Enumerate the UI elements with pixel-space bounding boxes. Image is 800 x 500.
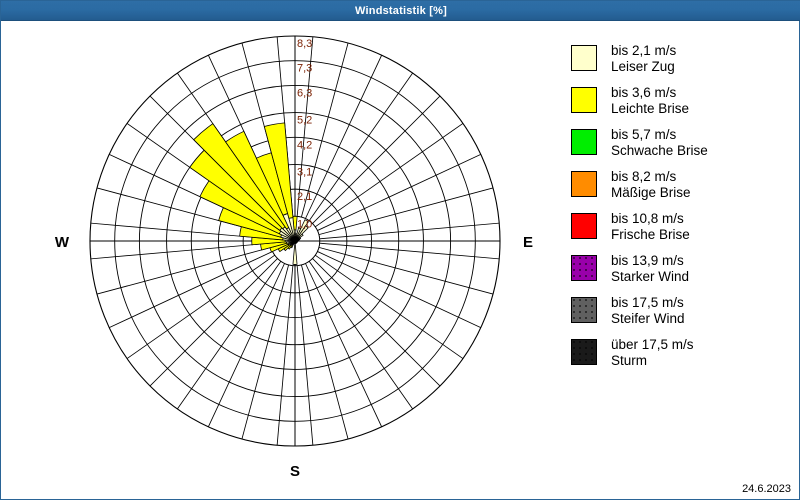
grid-spoke [297,266,313,446]
radial-tick-label: 2,1 [297,191,312,203]
legend-item: bis 3,6 m/s Leichte Brise [571,85,793,118]
window-title: Windstatistik [%] [355,5,447,17]
legend-name-label: Leichte Brise [611,101,689,117]
radial-tick-label: 6,3 [297,87,312,99]
legend-name-label: Steifer Wind [611,311,685,327]
wind-rose-petals [190,123,309,265]
window-content: 1,02,13,14,25,26,37,38,3NSEW bis 2,1 m/s… [1,21,799,499]
grid-spoke [277,266,293,446]
grid-spoke [312,258,440,385]
legend-swatch-frische-brise [571,213,597,239]
legend-speed-label: über 17,5 m/s [611,337,694,353]
legend-speed-label: bis 2,1 m/s [611,43,676,59]
legend-item: bis 10,8 m/s Frische Brise [571,211,793,244]
radial-tick-label: 7,3 [297,63,312,75]
legend-swatch-sturm [571,339,597,365]
legend-swatch-schwache-brise [571,129,597,155]
grid-spoke [242,265,289,439]
compass-label-e: E [523,234,533,251]
legend-item: bis 13,9 m/s Starker Wind [571,253,793,286]
window-title-bar: Windstatistik [%] [1,1,800,21]
legend-item: bis 17,5 m/s Steifer Wind [571,295,793,328]
legend-speed-label: bis 10,8 m/s [611,211,690,227]
grid-spoke [320,243,500,259]
windstatistik-window: Windstatistik [%] 1,02,13,14,25,26,37,38… [0,0,800,500]
wind-rose-svg: 1,02,13,14,25,26,37,38,3NSEW [1,21,561,481]
legend-swatch-maessige-brise [571,171,597,197]
radial-tick-label: 3,1 [297,166,312,178]
wind-rose-plot: 1,02,13,14,25,26,37,38,3NSEW [1,21,561,481]
grid-spoke [127,255,275,358]
radial-tick-label: 4,2 [297,139,312,151]
grid-spoke [315,123,463,226]
legend-swatch-steifer-wind [571,297,597,323]
legend-swatch-leiser-zug [571,45,597,71]
legend-name-label: Starker Wind [611,269,689,285]
legend-speed-label: bis 17,5 m/s [611,295,685,311]
grid-spoke [91,243,271,259]
grid-spoke [97,247,271,294]
grid-spoke [309,261,412,409]
legend-name-label: Frische Brise [611,227,690,243]
radial-tick-label: 5,2 [297,115,312,127]
legend: bis 2,1 m/s Leiser Zug bis 3,6 m/s Leich… [571,43,793,379]
compass-label-w: W [55,234,70,251]
grid-spoke [315,255,463,358]
grid-spoke [309,73,412,221]
radial-tick-label: 8,3 [297,38,312,50]
legend-swatch-starker-wind [571,255,597,281]
legend-swatch-leichte-brise [571,87,597,113]
legend-item: bis 2,1 m/s Leiser Zug [571,43,793,76]
radial-tick-label: 1,0 [297,218,312,230]
grid-spoke [320,223,500,239]
grid-spoke [301,265,348,439]
grid-spoke [319,188,493,235]
grid-spoke [150,258,278,385]
grid-spoke [319,247,493,294]
compass-label-s: S [290,463,300,480]
legend-speed-label: bis 8,2 m/s [611,169,691,185]
legend-speed-label: bis 3,6 m/s [611,85,689,101]
compass-label-n: N [290,21,301,24]
legend-name-label: Sturm [611,353,694,369]
legend-name-label: Leiser Zug [611,59,676,75]
legend-item: bis 8,2 m/s Mäßige Brise [571,169,793,202]
legend-speed-label: bis 5,7 m/s [611,127,708,143]
legend-name-label: Mäßige Brise [611,185,691,201]
legend-speed-label: bis 13,9 m/s [611,253,689,269]
legend-item: über 17,5 m/s Sturm [571,337,793,370]
grid-spoke [312,96,440,223]
grid-spoke [177,261,280,409]
legend-name-label: Schwache Brise [611,143,708,159]
legend-item: bis 5,7 m/s Schwache Brise [571,127,793,160]
date-stamp: 24.6.2023 [742,483,791,495]
